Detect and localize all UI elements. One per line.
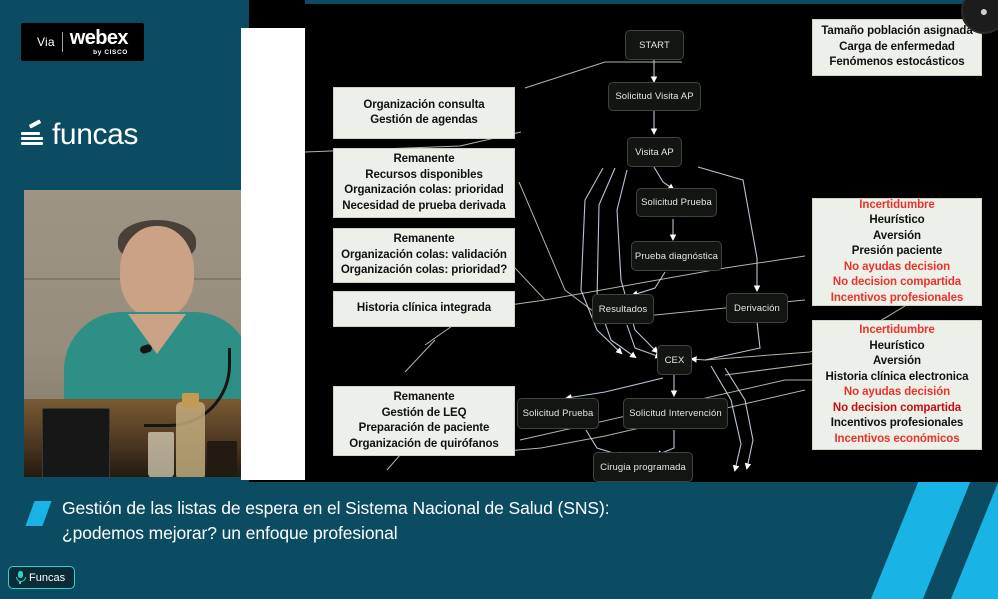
info-line: No decision compartida (833, 275, 961, 291)
info-line: Organización colas: prioridad? (341, 263, 507, 279)
info-line: Incentivos profesionales (831, 291, 963, 307)
flow-node-solicitud-intervencion[interactable]: Solicitud Intervención (623, 398, 728, 429)
info-line: Heurístico (869, 213, 924, 229)
desk-object (207, 441, 237, 475)
info-line: Incertidumbre (859, 323, 934, 339)
flow-node-solicitud-visita-ap[interactable]: Solicitud Visita AP (608, 82, 701, 111)
slide-left-margin (241, 28, 305, 480)
info-line: Tamaño población asignada (821, 24, 972, 40)
info-box-remanente-recursos: Remanente Recursos disponibles Organizac… (333, 148, 515, 218)
session-title-line-1: Gestión de las listas de espera en el Si… (62, 496, 862, 521)
info-line: Fenómenos estocásticos (829, 55, 964, 71)
funcas-wordmark-label: funcas (52, 118, 138, 152)
flow-node-cex[interactable]: CEX (657, 345, 692, 375)
info-line: Incertidumbre (859, 198, 934, 214)
flow-node-prueba-diagnostica[interactable]: Prueba diagnóstica (631, 241, 722, 271)
info-line: Remanente (393, 232, 454, 248)
info-box-factores-ap: Incertidumbre Heurístico Aversión Presió… (812, 198, 982, 306)
flow-node-derivacion[interactable]: Derivación (726, 293, 788, 323)
flow-node-start[interactable]: START (625, 30, 684, 60)
webex-by-cisco-label: by CISCO (93, 50, 128, 57)
shared-slide[interactable]: Organización consulta Gestión de agendas… (305, 0, 998, 482)
info-line: Heurístico (869, 339, 924, 355)
info-line: Carga de enfermedad (839, 40, 955, 56)
info-box-remanente-leq: Remanente Gestión de LEQ Preparación de … (333, 386, 515, 456)
info-line: Historia clínica integrada (357, 301, 491, 317)
webex-wordmark: webex by CISCO (70, 28, 128, 57)
branding-panel: Via webex by CISCO funcas (0, 0, 249, 482)
flow-node-visita-ap[interactable]: Visita AP (627, 137, 682, 167)
webex-logo: Via webex by CISCO (21, 23, 144, 61)
active-speaker-name: Funcas (29, 572, 65, 584)
info-line: Organización colas: prioridad (344, 183, 503, 199)
funcas-mark-icon (21, 122, 43, 148)
webex-word-label: webex (70, 28, 128, 48)
session-title: Gestión de las listas de espera en el Si… (62, 496, 862, 546)
info-line: Aversión (873, 229, 921, 245)
flow-node-solicitud-prueba-1[interactable]: Solicitud Prueba (636, 188, 717, 217)
slide-top-accent-bar (305, 0, 998, 4)
info-line: Gestión de agendas (370, 113, 477, 129)
info-line: No ayudas decisión (844, 385, 950, 401)
info-line: Organización consulta (363, 98, 484, 114)
funcas-logo: funcas (21, 118, 138, 152)
speaker-head (120, 226, 194, 318)
info-box-organizacion-consulta: Organización consulta Gestión de agendas (333, 87, 515, 139)
info-line: Necesidad de prueba derivada (342, 199, 505, 215)
speaker-video-tile[interactable] (24, 190, 245, 477)
water-bottle (176, 402, 205, 477)
info-line: No ayudas decision (844, 260, 950, 276)
info-line: Remanente (393, 152, 454, 168)
webex-logo-divider (62, 32, 63, 52)
info-line: Aversión (873, 354, 921, 370)
info-box-historia-clinica: Historia clínica integrada (333, 291, 515, 327)
flow-node-resultados[interactable]: Resultados (592, 294, 654, 324)
info-line: Remanente (393, 390, 454, 406)
info-line: Preparación de paciente (359, 421, 490, 437)
bottle-cap (182, 393, 199, 407)
info-line: No decision compartida (833, 401, 961, 417)
info-box-factores-cex: Incertidumbre Heurístico Aversión Histor… (812, 320, 982, 450)
laptop (42, 408, 110, 477)
water-glass (148, 432, 174, 477)
flow-node-cirugia-programada[interactable]: Cirugia programada (593, 452, 693, 482)
webex-meeting-screen: Via webex by CISCO funcas (0, 0, 998, 599)
session-title-line-2: ¿podemos mejorar? un enfoque profesional (62, 521, 862, 546)
info-line: Organización colas: validación (341, 248, 507, 264)
info-line: Recursos disponibles (365, 168, 483, 184)
info-line: Incentivos profesionales (831, 416, 963, 432)
active-speaker-badge[interactable]: Funcas (8, 566, 75, 589)
flow-node-solicitud-prueba-2[interactable]: Solicitud Prueba (517, 398, 599, 429)
info-box-tamano-poblacion: Tamaño población asignada Carga de enfer… (812, 19, 982, 76)
webex-via-label: Via (37, 35, 55, 49)
info-line: Gestión de LEQ (382, 406, 467, 422)
info-line: Presión paciente (852, 244, 942, 260)
info-line: Incentivos económicos (834, 432, 959, 448)
info-box-remanente-colas: Remanente Organización colas: validación… (333, 228, 515, 283)
microphone-icon (16, 571, 24, 584)
info-line: Organización de quirófanos (349, 437, 498, 453)
info-line: Historia clínica electronica (826, 370, 969, 386)
